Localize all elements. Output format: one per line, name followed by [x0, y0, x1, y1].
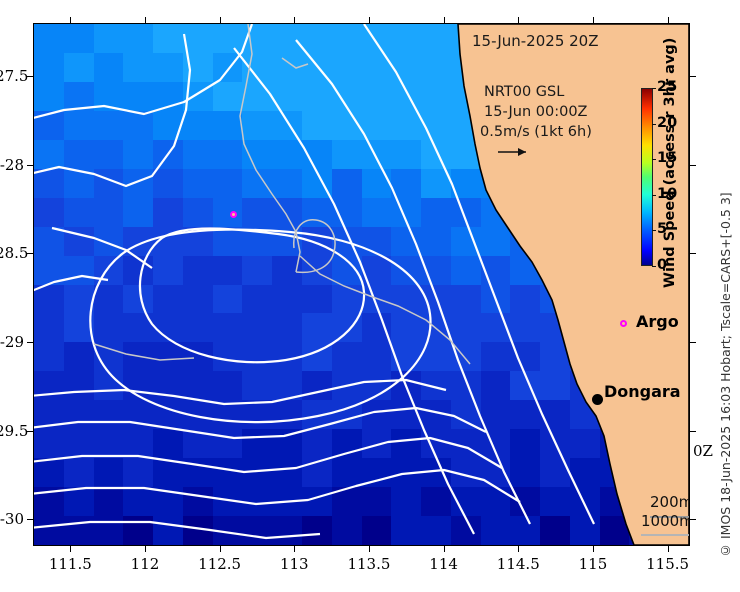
x-tick-top — [518, 17, 519, 23]
x-tick — [518, 546, 519, 552]
x-tick-label: 113 — [254, 555, 334, 573]
colorbar-tick — [652, 159, 656, 160]
colorbar-tick — [652, 266, 656, 267]
x-tick-label: 113.5 — [329, 555, 409, 573]
y-tick — [27, 342, 33, 343]
x-tick-label: 111.5 — [30, 555, 110, 573]
x-tick — [444, 546, 445, 552]
depth-200m-label: 200m — [650, 493, 690, 511]
y-tick-right — [690, 519, 696, 520]
model-name-annotation: NRT00 GSL — [484, 84, 564, 100]
y-tick — [27, 519, 33, 520]
y-tick-label: -29.5 — [0, 422, 24, 440]
dongara-city-marker — [592, 394, 603, 405]
y-tick-right — [690, 76, 696, 77]
y-tick-right — [690, 431, 696, 432]
y-tick-label: -28 — [0, 156, 24, 174]
y-tick-label: -29 — [0, 333, 24, 351]
colorbar-title: Wind Speed (access-r 3hr avg) — [662, 68, 678, 288]
depth-1000m-label: 1000m — [641, 512, 690, 530]
x-tick — [593, 546, 594, 552]
x-tick-label: 115.5 — [628, 555, 708, 573]
figure-canvas: 15-Jun-2025 20Z NRT00 GSL 15-Jun 00:00Z … — [0, 0, 740, 592]
x-tick — [70, 546, 71, 552]
argo-float-marker[interactable] — [230, 211, 237, 218]
map-plot-area[interactable]: 15-Jun-2025 20Z NRT00 GSL 15-Jun 00:00Z … — [33, 23, 690, 546]
depth-1000m-line — [641, 534, 690, 536]
wind-and-current-vectors — [34, 24, 689, 545]
x-tick-label: 115 — [553, 555, 633, 573]
y-tick-label: -27.5 — [0, 67, 24, 85]
colorbar-tick — [652, 195, 656, 196]
x-tick-top — [220, 17, 221, 23]
x-tick-top — [294, 17, 295, 23]
date-annotation: 15-Jun-2025 20Z — [472, 32, 599, 50]
y-tick-right — [690, 253, 696, 254]
x-tick-label: 112.5 — [180, 555, 260, 573]
map-plot-inner — [34, 24, 689, 545]
x-tick — [220, 546, 221, 552]
y-tick-right — [690, 342, 696, 343]
clipped-edge-label: 0Z — [693, 442, 713, 460]
x-tick — [294, 546, 295, 552]
dongara-label: Dongara — [604, 382, 681, 401]
credit-text: © IMOS 18-Jun-2025 16:03 Hobart; Tscale=… — [718, 178, 733, 558]
x-tick — [369, 546, 370, 552]
colorbar-gradient — [641, 88, 653, 266]
vector-key-arrow — [496, 146, 536, 160]
x-tick-top — [369, 17, 370, 23]
colorbar-tick — [652, 230, 656, 231]
x-tick-top — [70, 17, 71, 23]
vector-scale-annotation: 0.5m/s (1kt 6h) — [480, 124, 592, 140]
x-tick-label: 114 — [404, 555, 484, 573]
argo-legend-marker — [620, 320, 627, 327]
colorbar-tick — [652, 124, 656, 125]
x-tick-top — [593, 17, 594, 23]
model-time-annotation: 15-Jun 00:00Z — [484, 104, 587, 120]
x-tick — [668, 546, 669, 552]
x-tick-top — [668, 17, 669, 23]
y-tick-label: -30 — [0, 510, 24, 528]
x-tick-label: 112 — [105, 555, 185, 573]
x-tick-top — [145, 17, 146, 23]
x-tick-label: 114.5 — [478, 555, 558, 573]
x-tick — [145, 546, 146, 552]
y-tick-right — [690, 165, 696, 166]
argo-legend-label: Argo — [636, 312, 679, 331]
x-tick-top — [444, 17, 445, 23]
y-tick-label: -28.5 — [0, 244, 24, 262]
y-tick — [27, 165, 33, 166]
colorbar-tick — [652, 88, 656, 89]
